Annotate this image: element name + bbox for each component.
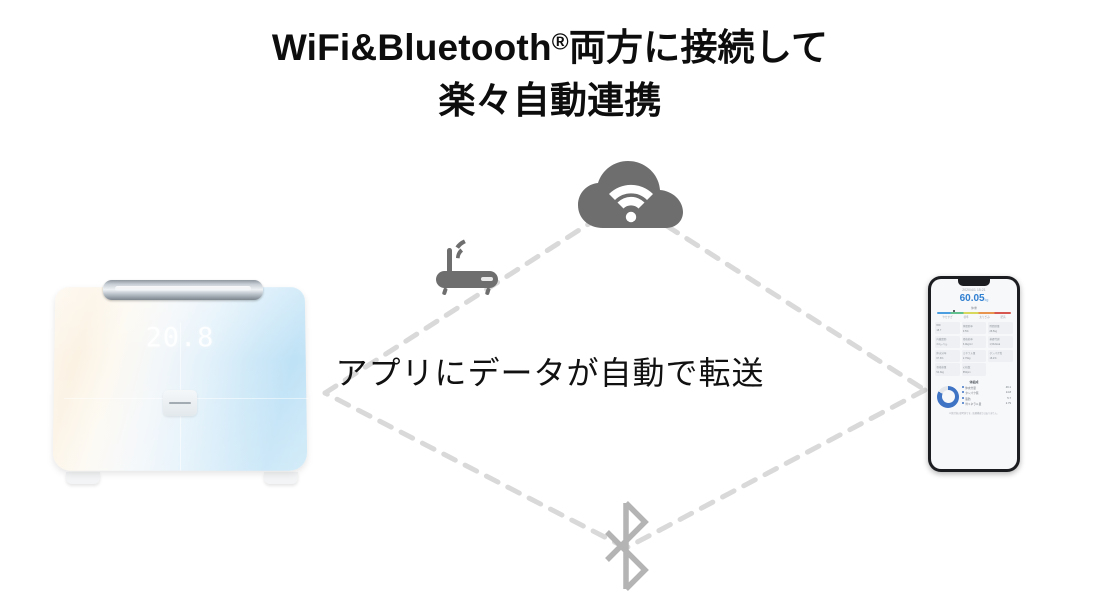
app-footnote: ※測定値は参考値です。医療機器ではありません。 <box>935 411 1013 415</box>
cloud-wifi-icon <box>576 160 686 232</box>
page-title-line-1-b: 両方に接続して <box>569 27 828 68</box>
metric-card[interactable]: 体脂肪率 9.5% <box>962 322 987 334</box>
page-title-line-1: WiFi&Bluetooth®両方に接続して <box>0 22 1100 75</box>
transfer-caption: アプリにデータが自動で転送 <box>0 348 1100 394</box>
metric-card[interactable]: 骨格筋率 6.9kg/m² <box>962 336 987 348</box>
bluetooth-icon <box>595 500 657 592</box>
legend-label: 骨ミネラル量 <box>965 403 981 406</box>
scale-divider-horizontal <box>64 398 309 399</box>
legend-dot-icon <box>962 397 964 399</box>
gauge-tick: やせすぎ <box>942 315 952 319</box>
metric-card[interactable]: 内臓脂肪 3.0レベル <box>935 336 960 348</box>
legend-label: 脂肪 <box>965 398 970 401</box>
metric-unit: % <box>966 330 968 333</box>
page-title-line-2: 楽々自動連携 <box>0 75 1100 128</box>
weight-unit: kg <box>985 298 989 302</box>
page-title-line-1-a: WiFi&Bluetooth <box>272 27 552 68</box>
wifi-router-icon <box>430 238 510 300</box>
metric-card[interactable]: BMI 18.7 <box>935 322 960 334</box>
weight-value: 60.05kg <box>935 293 1013 304</box>
scale-handle-bar <box>103 280 263 300</box>
weight-range-gauge <box>937 312 1011 315</box>
page-title: WiFi&Bluetooth®両方に接続して 楽々自動連携 <box>0 22 1100 127</box>
metric-card[interactable]: 基礎代謝 1,532kcal <box>988 336 1013 348</box>
measurement-timestamp: 2020/4/1 15:21 <box>935 288 1013 292</box>
metric-card[interactable]: 除脂肪量 28.5kg <box>988 322 1013 334</box>
legend-value: 2.79 <box>1006 402 1011 407</box>
metric-value: 1,532kcal <box>989 341 1011 346</box>
router-node <box>430 238 510 300</box>
gauge-tick: 肥満 <box>1000 315 1005 319</box>
metric-value: 9.5% <box>963 328 985 333</box>
scale-foot-right <box>264 472 298 484</box>
gauge-tick: 標準 <box>963 315 968 319</box>
metric-unit: レベル <box>940 343 948 346</box>
registered-trademark-icon: ® <box>552 29 569 55</box>
cloud-node <box>576 160 686 232</box>
phone-notch <box>958 279 990 286</box>
metric-value: 3.0レベル <box>936 341 958 346</box>
scale-divider-vertical <box>180 322 181 470</box>
gauge-title: 体重 <box>935 306 1013 310</box>
weight-number: 60.05 <box>960 293 985 304</box>
gauge-tick-labels: やせすぎ 標準 太りぎみ 肥満 <box>937 315 1011 319</box>
bluetooth-node <box>595 500 657 592</box>
metric-number: 18.7 <box>936 329 941 332</box>
connector-bluetooth-to-left <box>325 393 626 548</box>
gauge-tick: 太りぎみ <box>979 315 989 319</box>
legend-dot-icon <box>962 402 964 404</box>
scale-foot-left <box>66 472 100 484</box>
connector-phone-to-bluetooth <box>626 390 925 548</box>
metric-value: 28.5kg <box>989 328 1011 333</box>
metric-value: 18.7 <box>936 327 958 332</box>
metric-unit: kcal <box>996 343 1000 346</box>
metric-unit: kg/m² <box>966 343 972 346</box>
metric-unit: kg <box>994 330 997 333</box>
metric-value: 6.9kg/m² <box>963 341 985 346</box>
legend-item: 骨ミネラル量 2.79 <box>962 402 1013 407</box>
infographic-canvas: WiFi&Bluetooth®両方に接続して 楽々自動連携 <box>0 0 1100 600</box>
gauge-marker-icon <box>953 310 955 312</box>
